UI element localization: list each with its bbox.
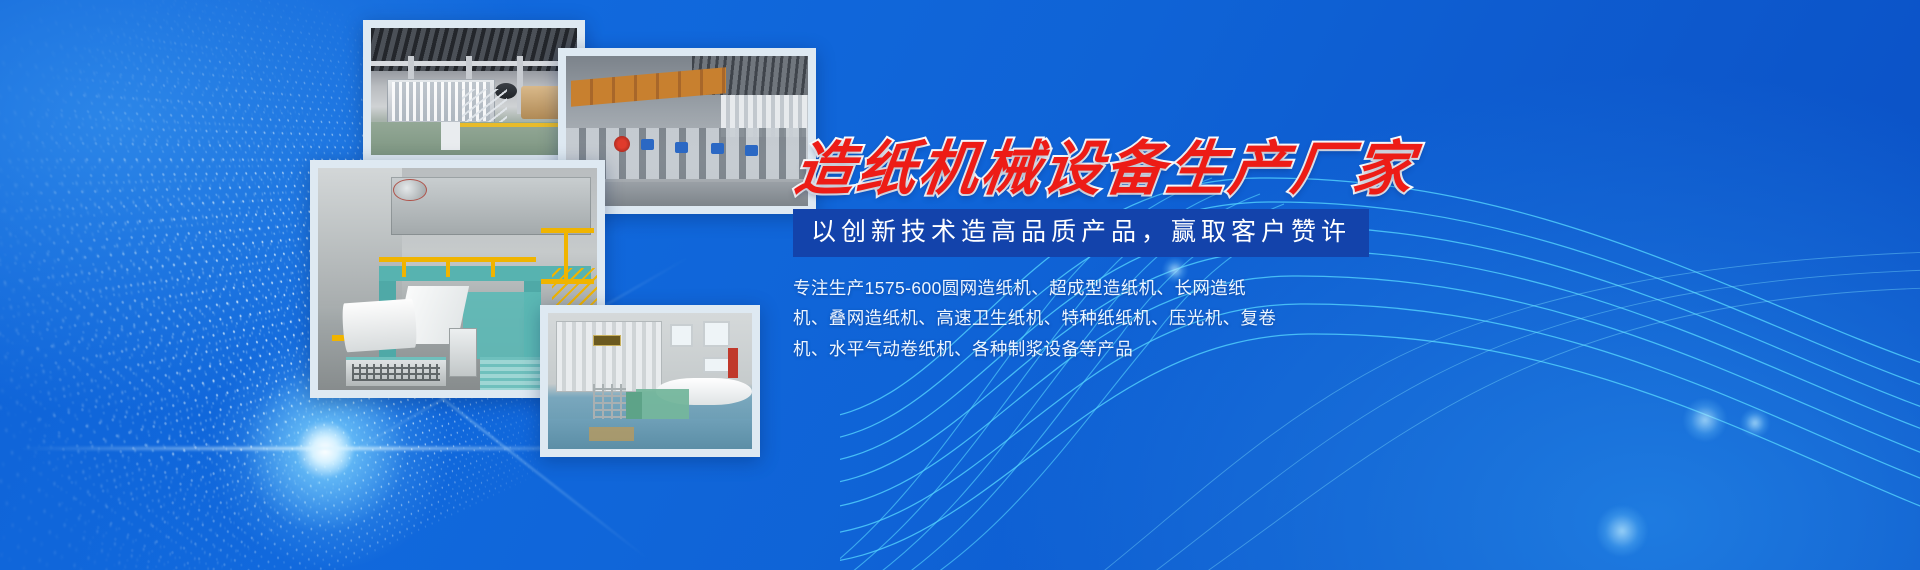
photo-paper-machine-reel-section[interactable]: [540, 305, 760, 457]
banner-subtitle: 以创新技术造高品质产品，赢取客户赞许: [811, 217, 1351, 247]
photo-paper-machine-factory-hall[interactable]: [363, 20, 585, 163]
bokeh-orb-5: [1596, 505, 1648, 557]
photo-image-4: [548, 313, 752, 449]
description-line-3: 种制浆设备等产品: [990, 339, 1133, 359]
banner-description: 专注生产1575-600圆网造纸机、超成型造纸机、长网造纸机、叠网造纸机、高速卫…: [793, 273, 1280, 364]
banner-subtitle-band: 以创新技术造高品质产品，赢取客户赞许: [793, 209, 1369, 257]
photo-image-1: [371, 28, 577, 155]
banner-text-block: 造纸机械设备生产厂家 以创新技术造高品质产品，赢取客户赞许 专注生产1575-6…: [793, 140, 1473, 364]
bokeh-orb-4: [1740, 408, 1770, 438]
hero-banner: 造纸机械设备生产厂家 以创新技术造高品质产品，赢取客户赞许 专注生产1575-6…: [0, 0, 1920, 570]
banner-headline: 造纸机械设备生产厂家: [791, 140, 1476, 199]
bokeh-orb-3: [1683, 398, 1727, 442]
